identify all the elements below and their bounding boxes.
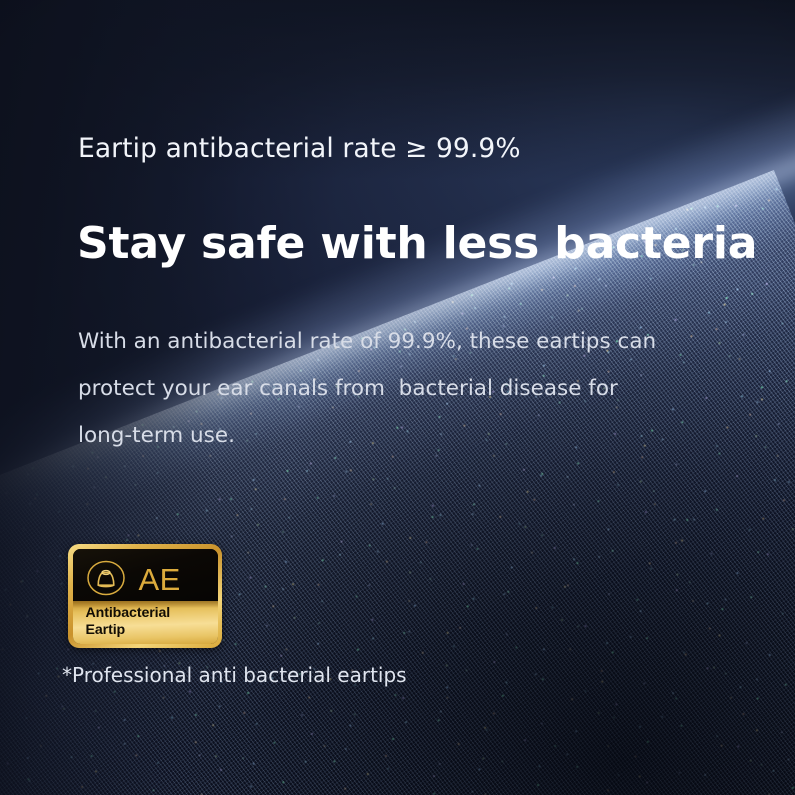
body-paragraph: With an antibacterial rate of 99.9%, the… <box>78 318 678 459</box>
antibacterial-eartip-badge: AE Antibacterial Eartip <box>68 544 222 648</box>
badge-label: Antibacterial Eartip <box>86 605 171 639</box>
eartip-icon <box>85 557 127 603</box>
eyebrow-text: Eartip antibacterial rate ≥ 99.9% <box>78 133 521 164</box>
page-title: Stay safe with less bacteria <box>77 218 757 269</box>
badge-monogram: AE <box>139 564 181 595</box>
badge-bottom-section: Antibacterial Eartip <box>73 601 218 644</box>
footnote-text: *Professional anti bacterial eartips <box>62 663 407 687</box>
badge-inner: AE Antibacterial Eartip <box>73 549 218 644</box>
content-layer: Eartip antibacterial rate ≥ 99.9% Stay s… <box>0 0 795 795</box>
product-feature-poster: Eartip antibacterial rate ≥ 99.9% Stay s… <box>0 0 795 795</box>
